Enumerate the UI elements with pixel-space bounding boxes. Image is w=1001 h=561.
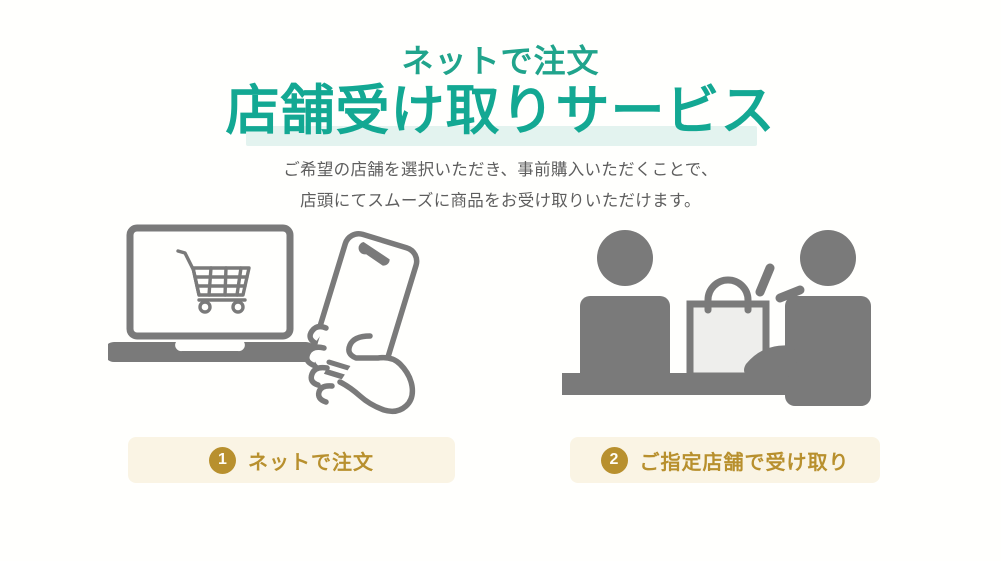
page-title: 店舗受け取りサービス bbox=[226, 84, 776, 138]
page-title-container: 店舗受け取りサービス bbox=[0, 84, 1001, 138]
action-marks-icon bbox=[760, 268, 800, 298]
eyebrow-heading: ネットで注文 bbox=[0, 44, 1001, 79]
step-2-pill[interactable]: 2 ご指定店舗で受け取り bbox=[570, 437, 880, 483]
staff-figure-icon bbox=[785, 230, 871, 406]
subtitle-line-1: ご希望の店舗を選択いただき、事前購入いただくことで、 bbox=[0, 155, 1001, 186]
step-1-pill[interactable]: 1 ネットで注文 bbox=[128, 437, 455, 483]
subtitle-line-2: 店頭にてスムーズに商品をお受け取りいただけます。 bbox=[0, 186, 1001, 217]
order-online-illustration bbox=[108, 218, 468, 423]
step-1-label: ネットで注文 bbox=[248, 446, 374, 475]
laptop-notch bbox=[175, 342, 245, 351]
shopping-cart-icon bbox=[178, 251, 249, 312]
step-2-label: ご指定店舗で受け取り bbox=[640, 446, 850, 475]
customer-figure-icon bbox=[580, 230, 670, 376]
step-1-badge: 1 bbox=[209, 447, 236, 474]
step-2-badge: 2 bbox=[601, 447, 628, 474]
store-pickup-service-banner: ネットで注文 店舗受け取りサービス ご希望の店舗を選択いただき、事前購入いただく… bbox=[0, 0, 1001, 561]
subtitle: ご希望の店舗を選択いただき、事前購入いただくことで、 店頭にてスムーズに商品をお… bbox=[0, 155, 1001, 216]
store-pickup-illustration bbox=[548, 218, 908, 423]
